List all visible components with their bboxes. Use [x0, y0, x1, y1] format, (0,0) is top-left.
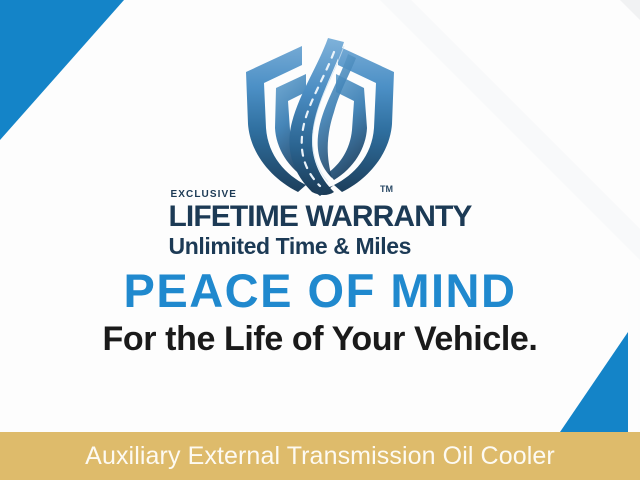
headline-secondary: For the Life of Your Vehicle. — [0, 321, 640, 358]
exclusive-label: EXCLUSIVE — [170, 190, 471, 200]
unlimited-time-miles-subtitle: Unlimited Time & Miles — [168, 234, 471, 258]
bottom-caption-banner: Auxiliary External Transmission Oil Cool… — [0, 432, 640, 480]
warranty-lockup: EXCLUSIVE LIFETIME WARRANTY Unlimited Ti… — [0, 190, 640, 259]
caption-text: Auxiliary External Transmission Oil Cool… — [85, 442, 555, 471]
headline-primary: PEACE OF MIND — [0, 266, 640, 315]
warranty-slide: TM EXCLUSIVE LIFETIME WARRANTY Unlimited… — [0, 0, 640, 480]
shield-with-road-logo: TM — [240, 32, 400, 200]
logo-container: TM — [0, 32, 640, 200]
lifetime-warranty-title: LIFETIME WARRANTY — [168, 202, 471, 233]
headline-block: PEACE OF MIND For the Life of Your Vehic… — [0, 266, 640, 359]
